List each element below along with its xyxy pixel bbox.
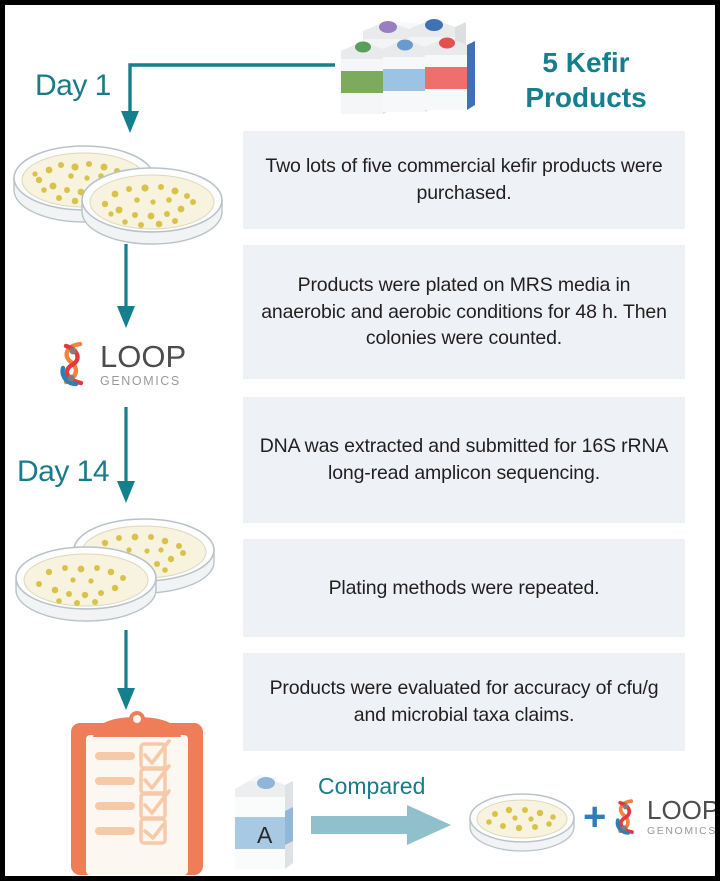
step-box-plating: Products were plated on MRS media in ana…: [243, 245, 685, 379]
heading-line-2: Products: [501, 80, 671, 115]
loop-logo-subtitle: GENOMICS: [100, 375, 186, 388]
step-text: DNA was extracted and submitted for 16S …: [257, 433, 671, 487]
down-arrow-icon-1: [110, 240, 150, 335]
step-box-repeat: Plating methods were repeated.: [243, 539, 685, 637]
right-arrow-icon: [311, 805, 457, 851]
carton-a-label: A: [257, 822, 273, 848]
loop-genomics-logo-footer: LOOP GENOMICS: [613, 797, 719, 837]
milk-carton-a-icon: A: [227, 767, 299, 873]
day-14-label: Day 14: [17, 455, 109, 489]
step-box-purchase: Two lots of five commercial kefir produc…: [243, 131, 685, 229]
loop-genomics-logo: LOOP GENOMICS: [57, 340, 186, 388]
loop-logo-title: LOOP: [100, 341, 186, 372]
page-title: 5 Kefir Products: [501, 45, 671, 115]
workflow-figure: 5 Kefir Products Day 1: [0, 0, 720, 881]
step-box-evaluate: Products were evaluated for accuracy of …: [243, 653, 685, 751]
step-text: Products were evaluated for accuracy of …: [257, 675, 671, 729]
petri-dish-icon-day14: [11, 510, 226, 625]
plus-sign: +: [583, 797, 606, 837]
clipboard-checklist-icon: [67, 705, 207, 875]
step-text: Two lots of five commercial kefir produc…: [257, 153, 671, 207]
loop-logo-subtitle: GENOMICS: [647, 826, 719, 837]
milk-carton-icon: [335, 9, 475, 119]
step-text: Products were plated on MRS media in ana…: [257, 272, 671, 353]
step-box-sequencing: DNA was extracted and submitted for 16S …: [243, 397, 685, 523]
petri-dish-icon-footer: [465, 788, 581, 854]
step-text: Plating methods were repeated.: [329, 575, 600, 602]
day-1-label: Day 1: [35, 69, 111, 103]
compared-label: Compared: [318, 773, 425, 800]
down-arrow-icon-2: [110, 405, 150, 515]
heading-line-1: 5 Kefir: [501, 45, 671, 80]
petri-dish-icon-day1: [9, 130, 224, 245]
loop-dna-mark-icon: [613, 797, 640, 837]
loop-dna-mark-icon: [57, 340, 91, 388]
loop-logo-title: LOOP: [647, 797, 719, 823]
